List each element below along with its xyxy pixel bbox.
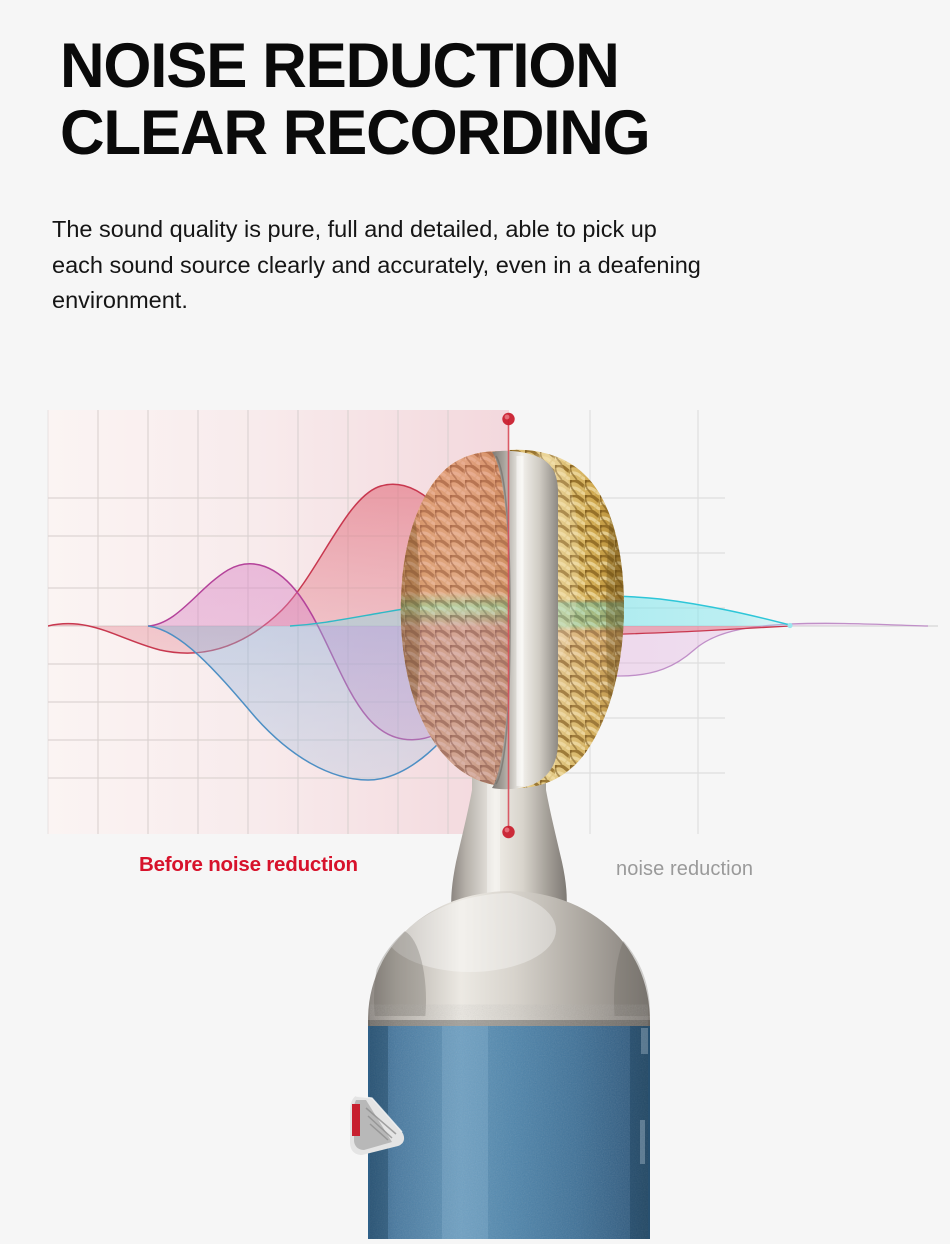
mic-body: [368, 1026, 650, 1239]
waveform-chart: [0, 388, 950, 858]
body-copy-line-2: each sound source clearly and accurately…: [52, 248, 870, 284]
body-copy: The sound quality is pure, full and deta…: [52, 212, 870, 319]
cyan-clean-wave-fill: [509, 596, 790, 627]
caption-noise-reduction: noise reduction: [616, 858, 753, 881]
body-copy-line-1: The sound quality is pure, full and deta…: [52, 212, 870, 248]
caption-before-noise-reduction: Before noise reduction: [139, 853, 358, 877]
chrome-dome: [368, 888, 658, 1072]
winged-emblem: [350, 1096, 404, 1155]
headline-line-2: CLEAR RECORDING: [60, 103, 903, 164]
cyan-wave-endpoint: [787, 623, 792, 628]
body-copy-line-3: environment.: [52, 283, 870, 319]
page-headline: NOISE REDUCTION CLEAR RECORDING: [60, 36, 920, 164]
headline-line-1: NOISE REDUCTION: [60, 36, 903, 97]
